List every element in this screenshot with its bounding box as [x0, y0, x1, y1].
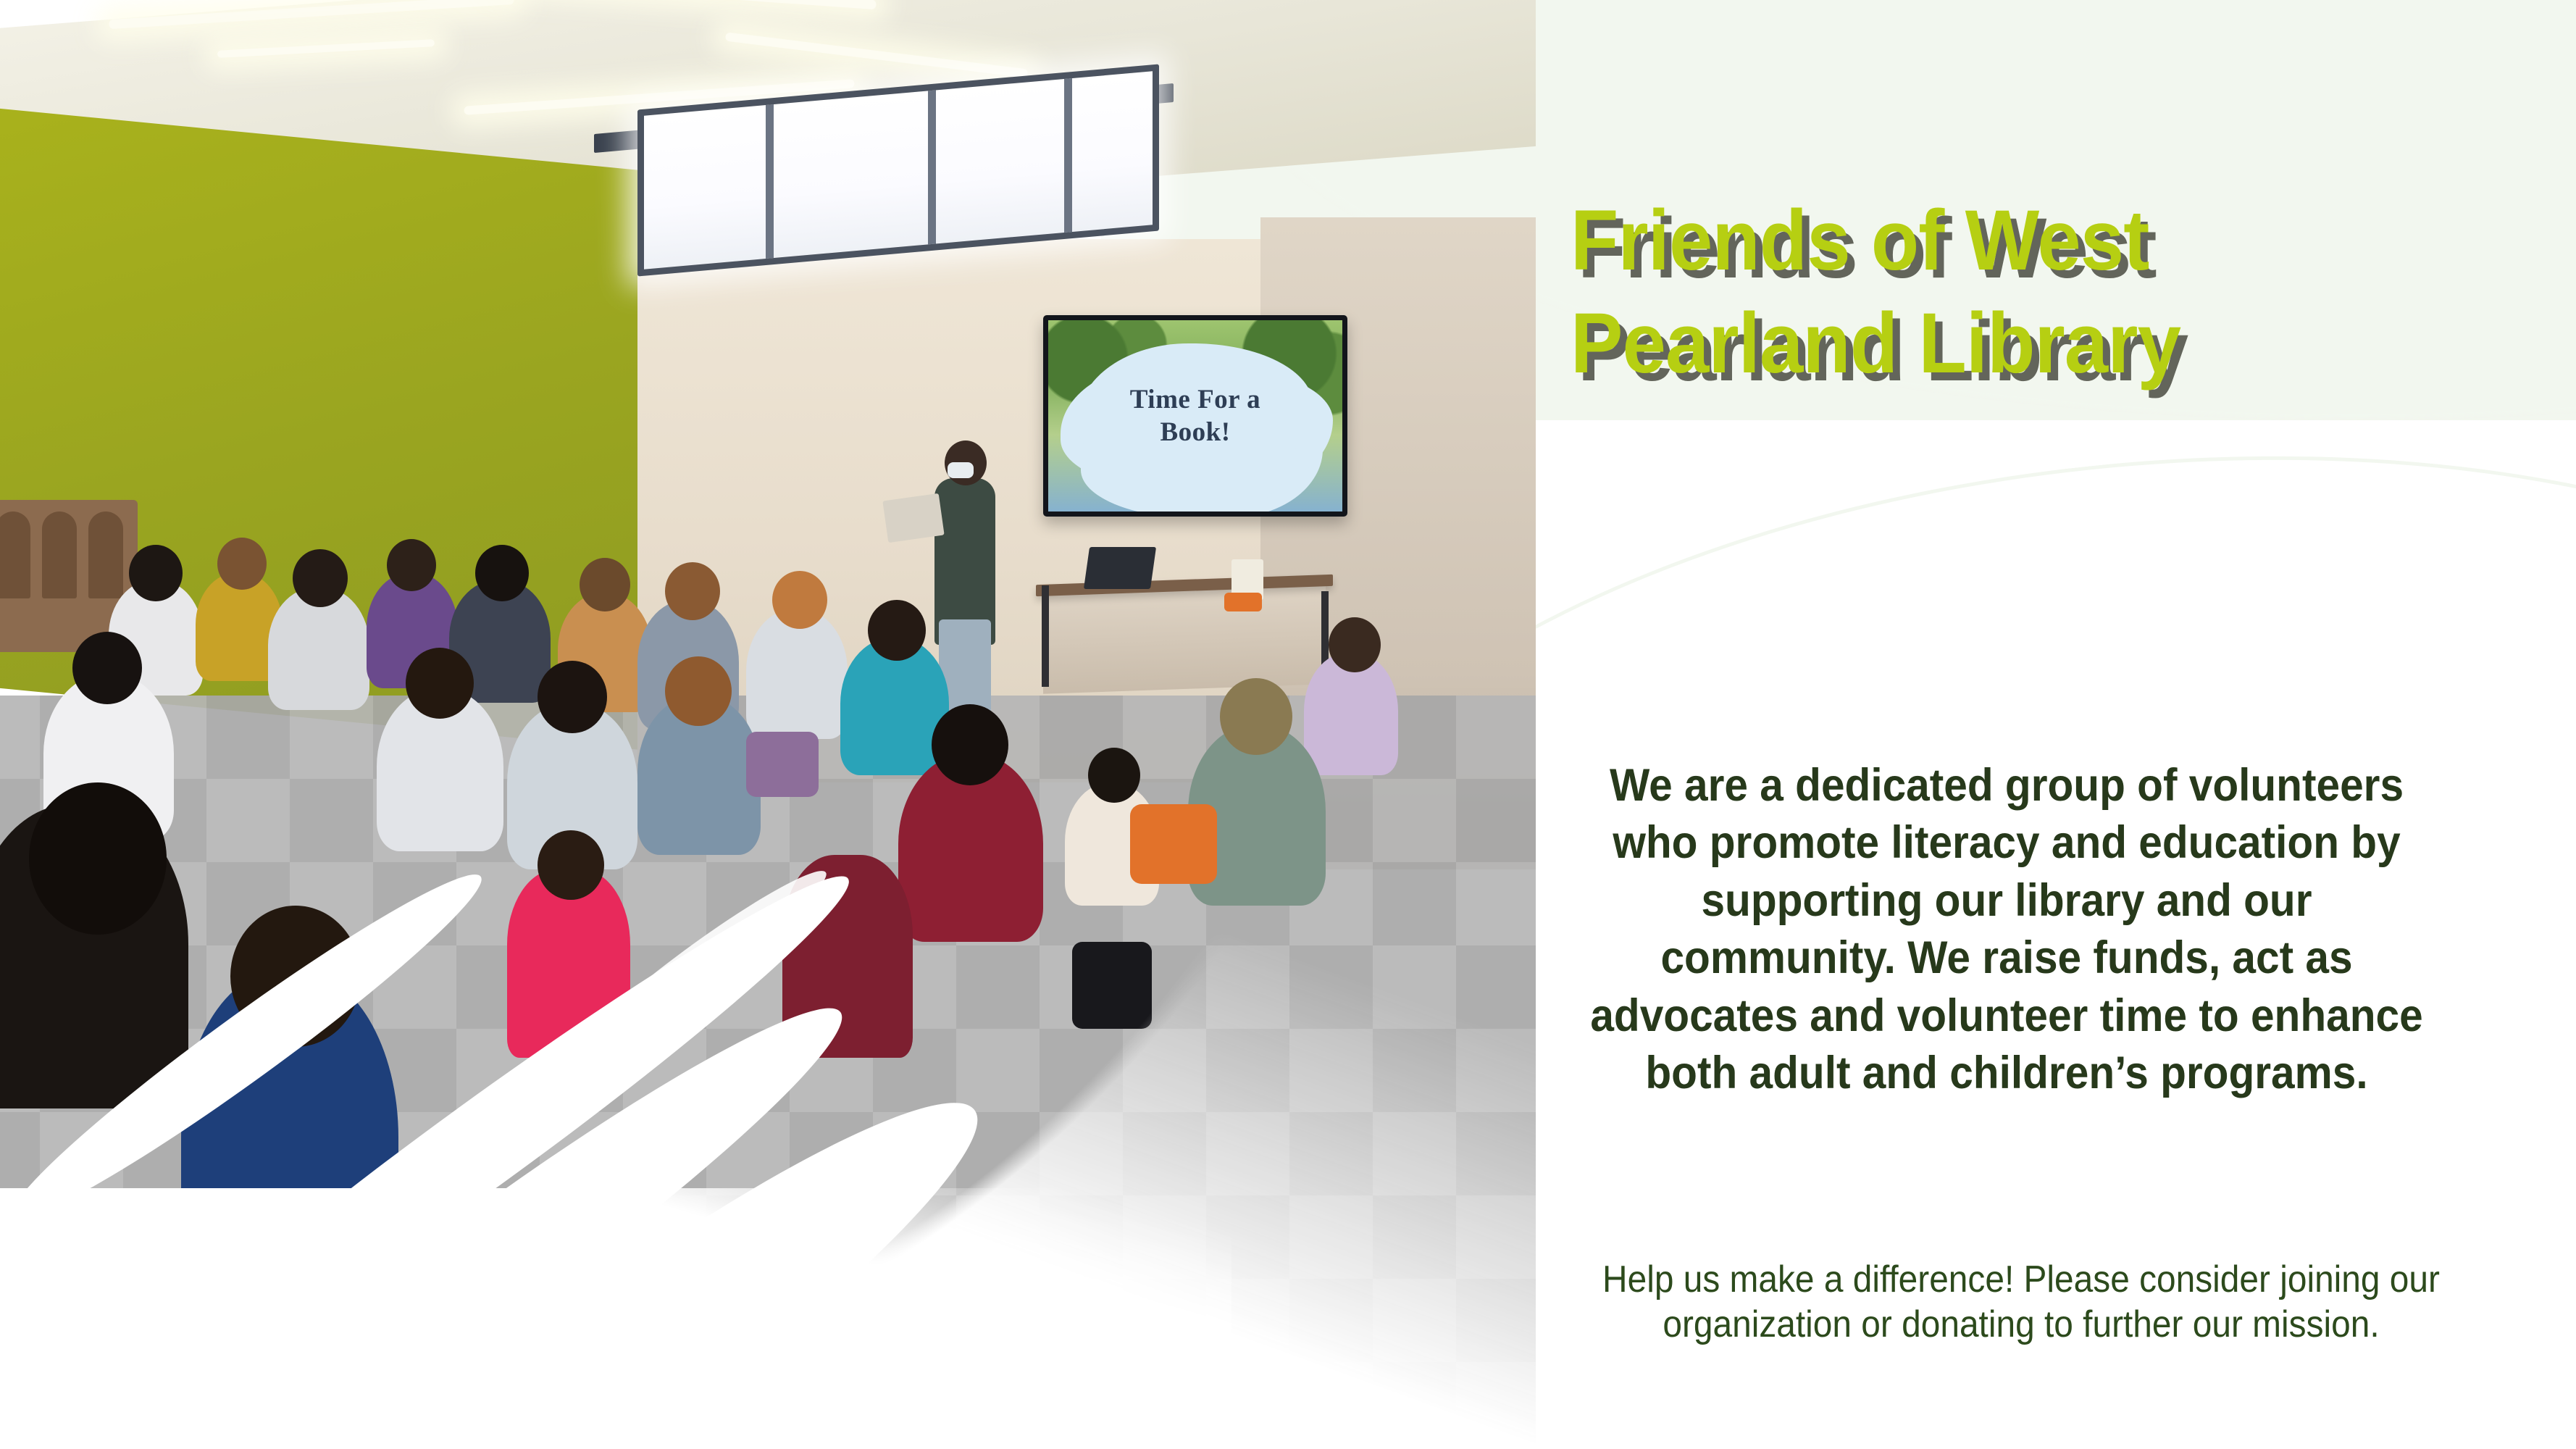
audience-head [406, 648, 474, 719]
audience-head [129, 545, 183, 601]
laptop [1084, 547, 1156, 589]
presenter-mask [948, 462, 974, 478]
backpack [1130, 804, 1217, 884]
audience-head [293, 549, 348, 607]
call-to-action-text: Help us make a difference! Please consid… [1588, 1257, 2454, 1348]
slide-canvas: Time For a Book! [0, 0, 2576, 1449]
presentation-screen: Time For a Book! [1043, 315, 1347, 517]
mission-statement: We are a dedicated group of volunteers w… [1582, 757, 2431, 1102]
audience-head [475, 545, 529, 601]
audience-head [72, 632, 142, 704]
audience-head [772, 571, 827, 629]
table-leg [1042, 585, 1049, 687]
screen-caption-line2: Book! [1160, 416, 1230, 448]
audience-head [1088, 748, 1140, 803]
audience-head [932, 704, 1008, 785]
brush-base-fill [0, 1188, 1231, 1449]
cubby-slot [0, 511, 30, 598]
audience-head [868, 600, 926, 661]
screen-caption-line1: Time For a [1130, 383, 1260, 416]
audience-head [1220, 678, 1292, 755]
audience-head [29, 782, 167, 935]
backpack [1072, 942, 1152, 1029]
audience-head [1329, 617, 1381, 672]
screen-caption: Time For a Book! [1048, 320, 1342, 511]
audience-head [387, 539, 436, 591]
window-mullion [766, 104, 774, 259]
audience-head [665, 562, 720, 620]
audience-head [538, 830, 604, 900]
cubby-slot [42, 511, 77, 598]
window-mullion [1064, 78, 1072, 233]
table-panel [1043, 586, 1326, 694]
audience-head [665, 656, 732, 726]
window-mullion [928, 90, 936, 244]
backpack [746, 732, 819, 797]
audience-head [538, 661, 607, 733]
cubby-slot [88, 511, 123, 598]
held-book [882, 493, 944, 543]
toy-prop [1224, 593, 1262, 611]
page-title: Friends of West Pearland Library [1571, 190, 2250, 395]
audience-head [217, 538, 267, 590]
audience-head [580, 558, 630, 611]
